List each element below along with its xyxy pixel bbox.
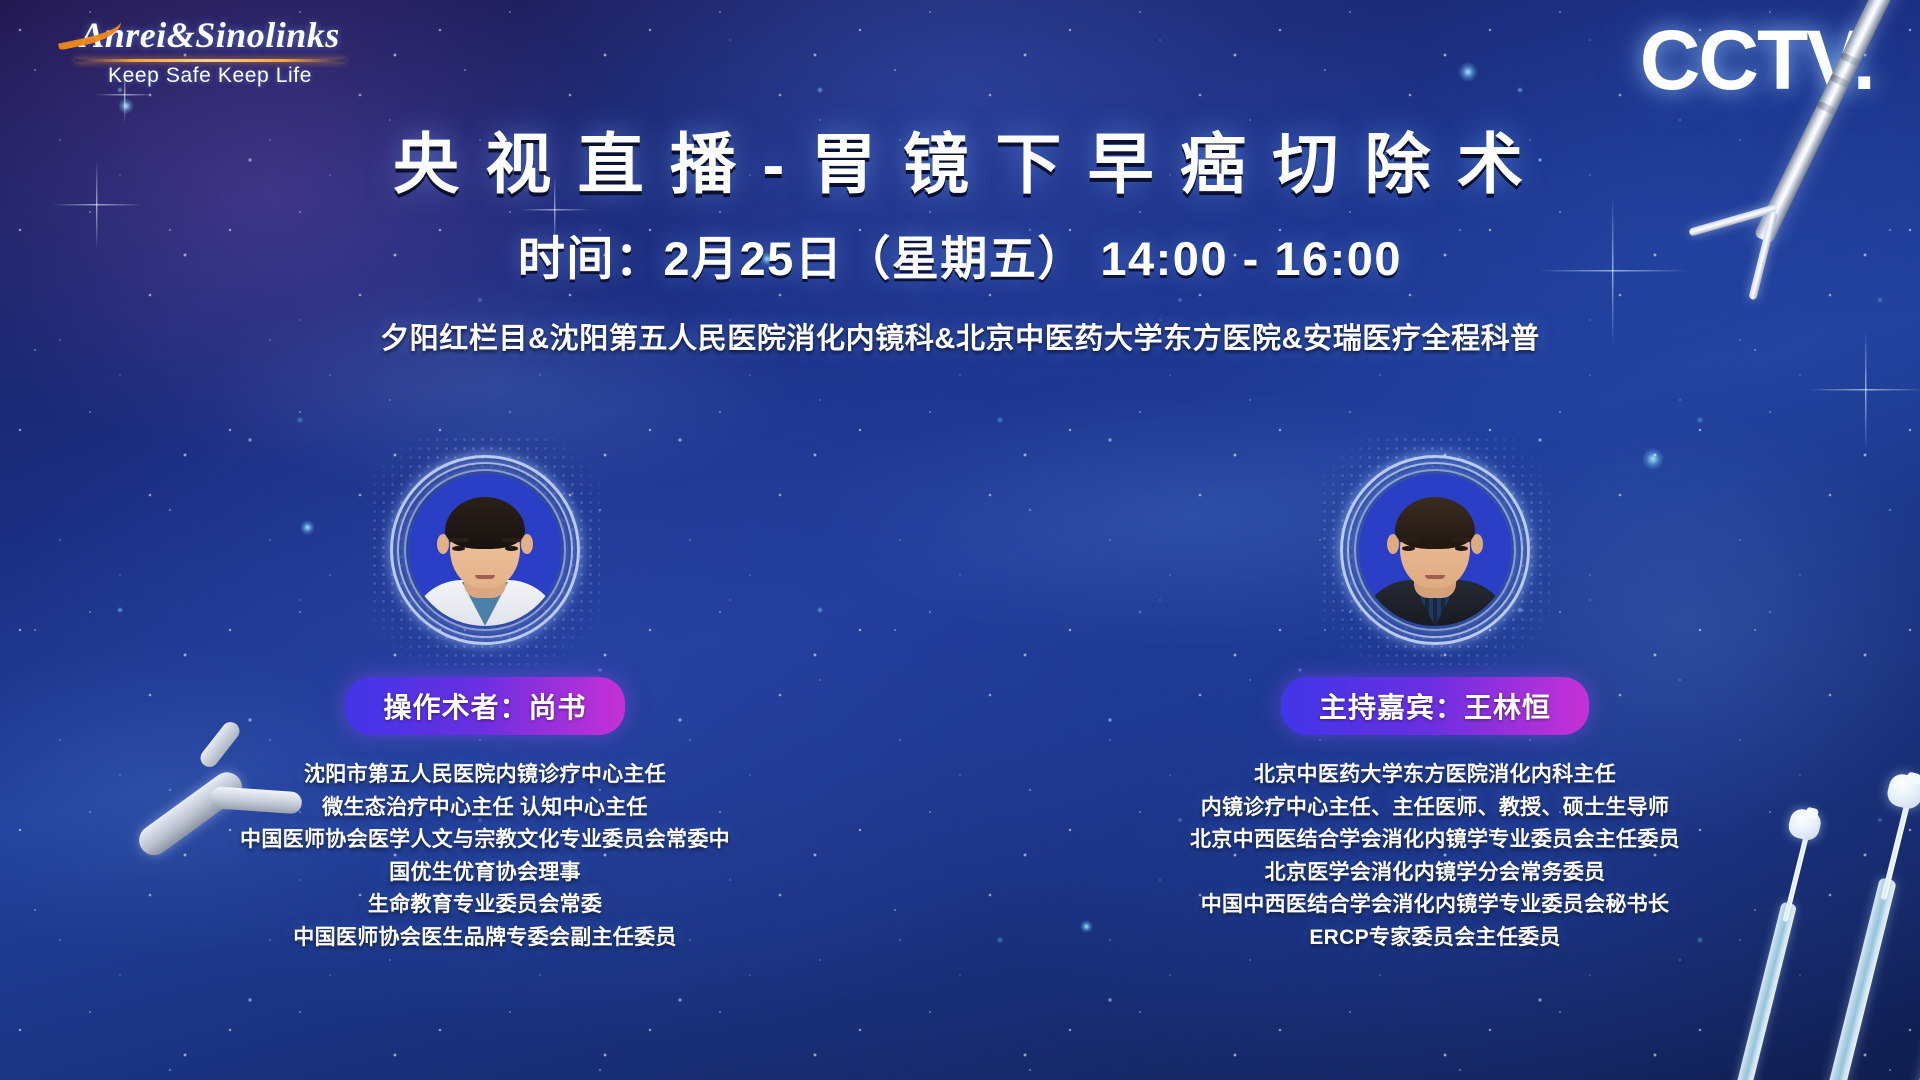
- credential-line: 中国医师协会医生品牌专委会副主任委员: [240, 922, 730, 955]
- credential-line: 北京中医药大学东方医院消化内科主任: [1190, 759, 1680, 792]
- livestream-poster: Anrei&Sinolinks Keep Safe Keep Life CCTV…: [0, 0, 1920, 1080]
- credential-line: 北京医学会消化内镜学分会常务委员: [1190, 857, 1680, 890]
- credential-line: 中国中西医结合学会消化内镜学专业委员会秘书长: [1190, 889, 1680, 922]
- cctv-logo: CCTV.: [1640, 18, 1874, 102]
- speaker-role-badge: 主持嘉宾：王林恒: [1281, 677, 1589, 735]
- organizers-line: 夕阳红栏目&沈阳第五人民医院消化内镜科&北京中医药大学东方医院&安瑞医疗全程科普: [0, 315, 1920, 357]
- speaker-card-host: 主持嘉宾：王林恒 北京中医药大学东方医院消化内科主任 内镜诊疗中心主任、主任医师…: [1220, 455, 1650, 954]
- credential-line: 北京中西医结合学会消化内镜学专业委员会主任委员: [1190, 824, 1680, 857]
- avatar-photo-host: [1359, 474, 1511, 626]
- brand-logo: Anrei&Sinolinks Keep Safe Keep Life: [60, 14, 360, 88]
- credential-line: 沈阳市第五人民医院内镜诊疗中心主任: [240, 759, 730, 792]
- credential-line: 内镜诊疗中心主任、主任医师、教授、硕士生导师: [1190, 792, 1680, 825]
- credential-line: 国优生优育协会理事: [240, 857, 730, 890]
- avatar-photo-operator: [409, 474, 561, 626]
- page-title: 央 视 直 播 - 胃 镜 下 早 癌 切 除 术: [0, 128, 1920, 202]
- brand-tagline: Keep Safe Keep Life: [60, 64, 360, 88]
- header-block: 央 视 直 播 - 胃 镜 下 早 癌 切 除 术 时间：2月25日（星期五） …: [0, 128, 1920, 357]
- credential-line: 中国医师协会医学人文与宗教文化专业委员会常委中: [240, 824, 730, 857]
- credential-line: 生命教育专业委员会常委: [240, 889, 730, 922]
- speaker-credentials: 北京中医药大学东方医院消化内科主任 内镜诊疗中心主任、主任医师、教授、硕士生导师…: [1190, 759, 1680, 954]
- star-glow-dot: [1458, 62, 1478, 82]
- star-glow-dot: [118, 98, 134, 114]
- speaker-card-operator: 操作术者：尚书 沈阳市第五人民医院内镜诊疗中心主任 微生态治疗中心主任 认知中心…: [270, 455, 700, 954]
- brand-divider: [75, 59, 345, 62]
- credential-line: 微生态治疗中心主任 认知中心主任: [240, 792, 730, 825]
- avatar: [390, 455, 580, 645]
- event-time: 时间：2月25日（星期五） 14:00 - 16:00: [0, 220, 1920, 289]
- speakers-section: 操作术者：尚书 沈阳市第五人民医院内镜诊疗中心主任 微生态治疗中心主任 认知中心…: [0, 455, 1920, 954]
- speaker-credentials: 沈阳市第五人民医院内镜诊疗中心主任 微生态治疗中心主任 认知中心主任 中国医师协…: [240, 759, 730, 954]
- brand-wordmark: Anrei&Sinolinks: [60, 14, 360, 56]
- speaker-role-badge: 操作术者：尚书: [345, 677, 624, 735]
- credential-line: ERCP专家委员会主任委员: [1190, 922, 1680, 955]
- avatar: [1340, 455, 1530, 645]
